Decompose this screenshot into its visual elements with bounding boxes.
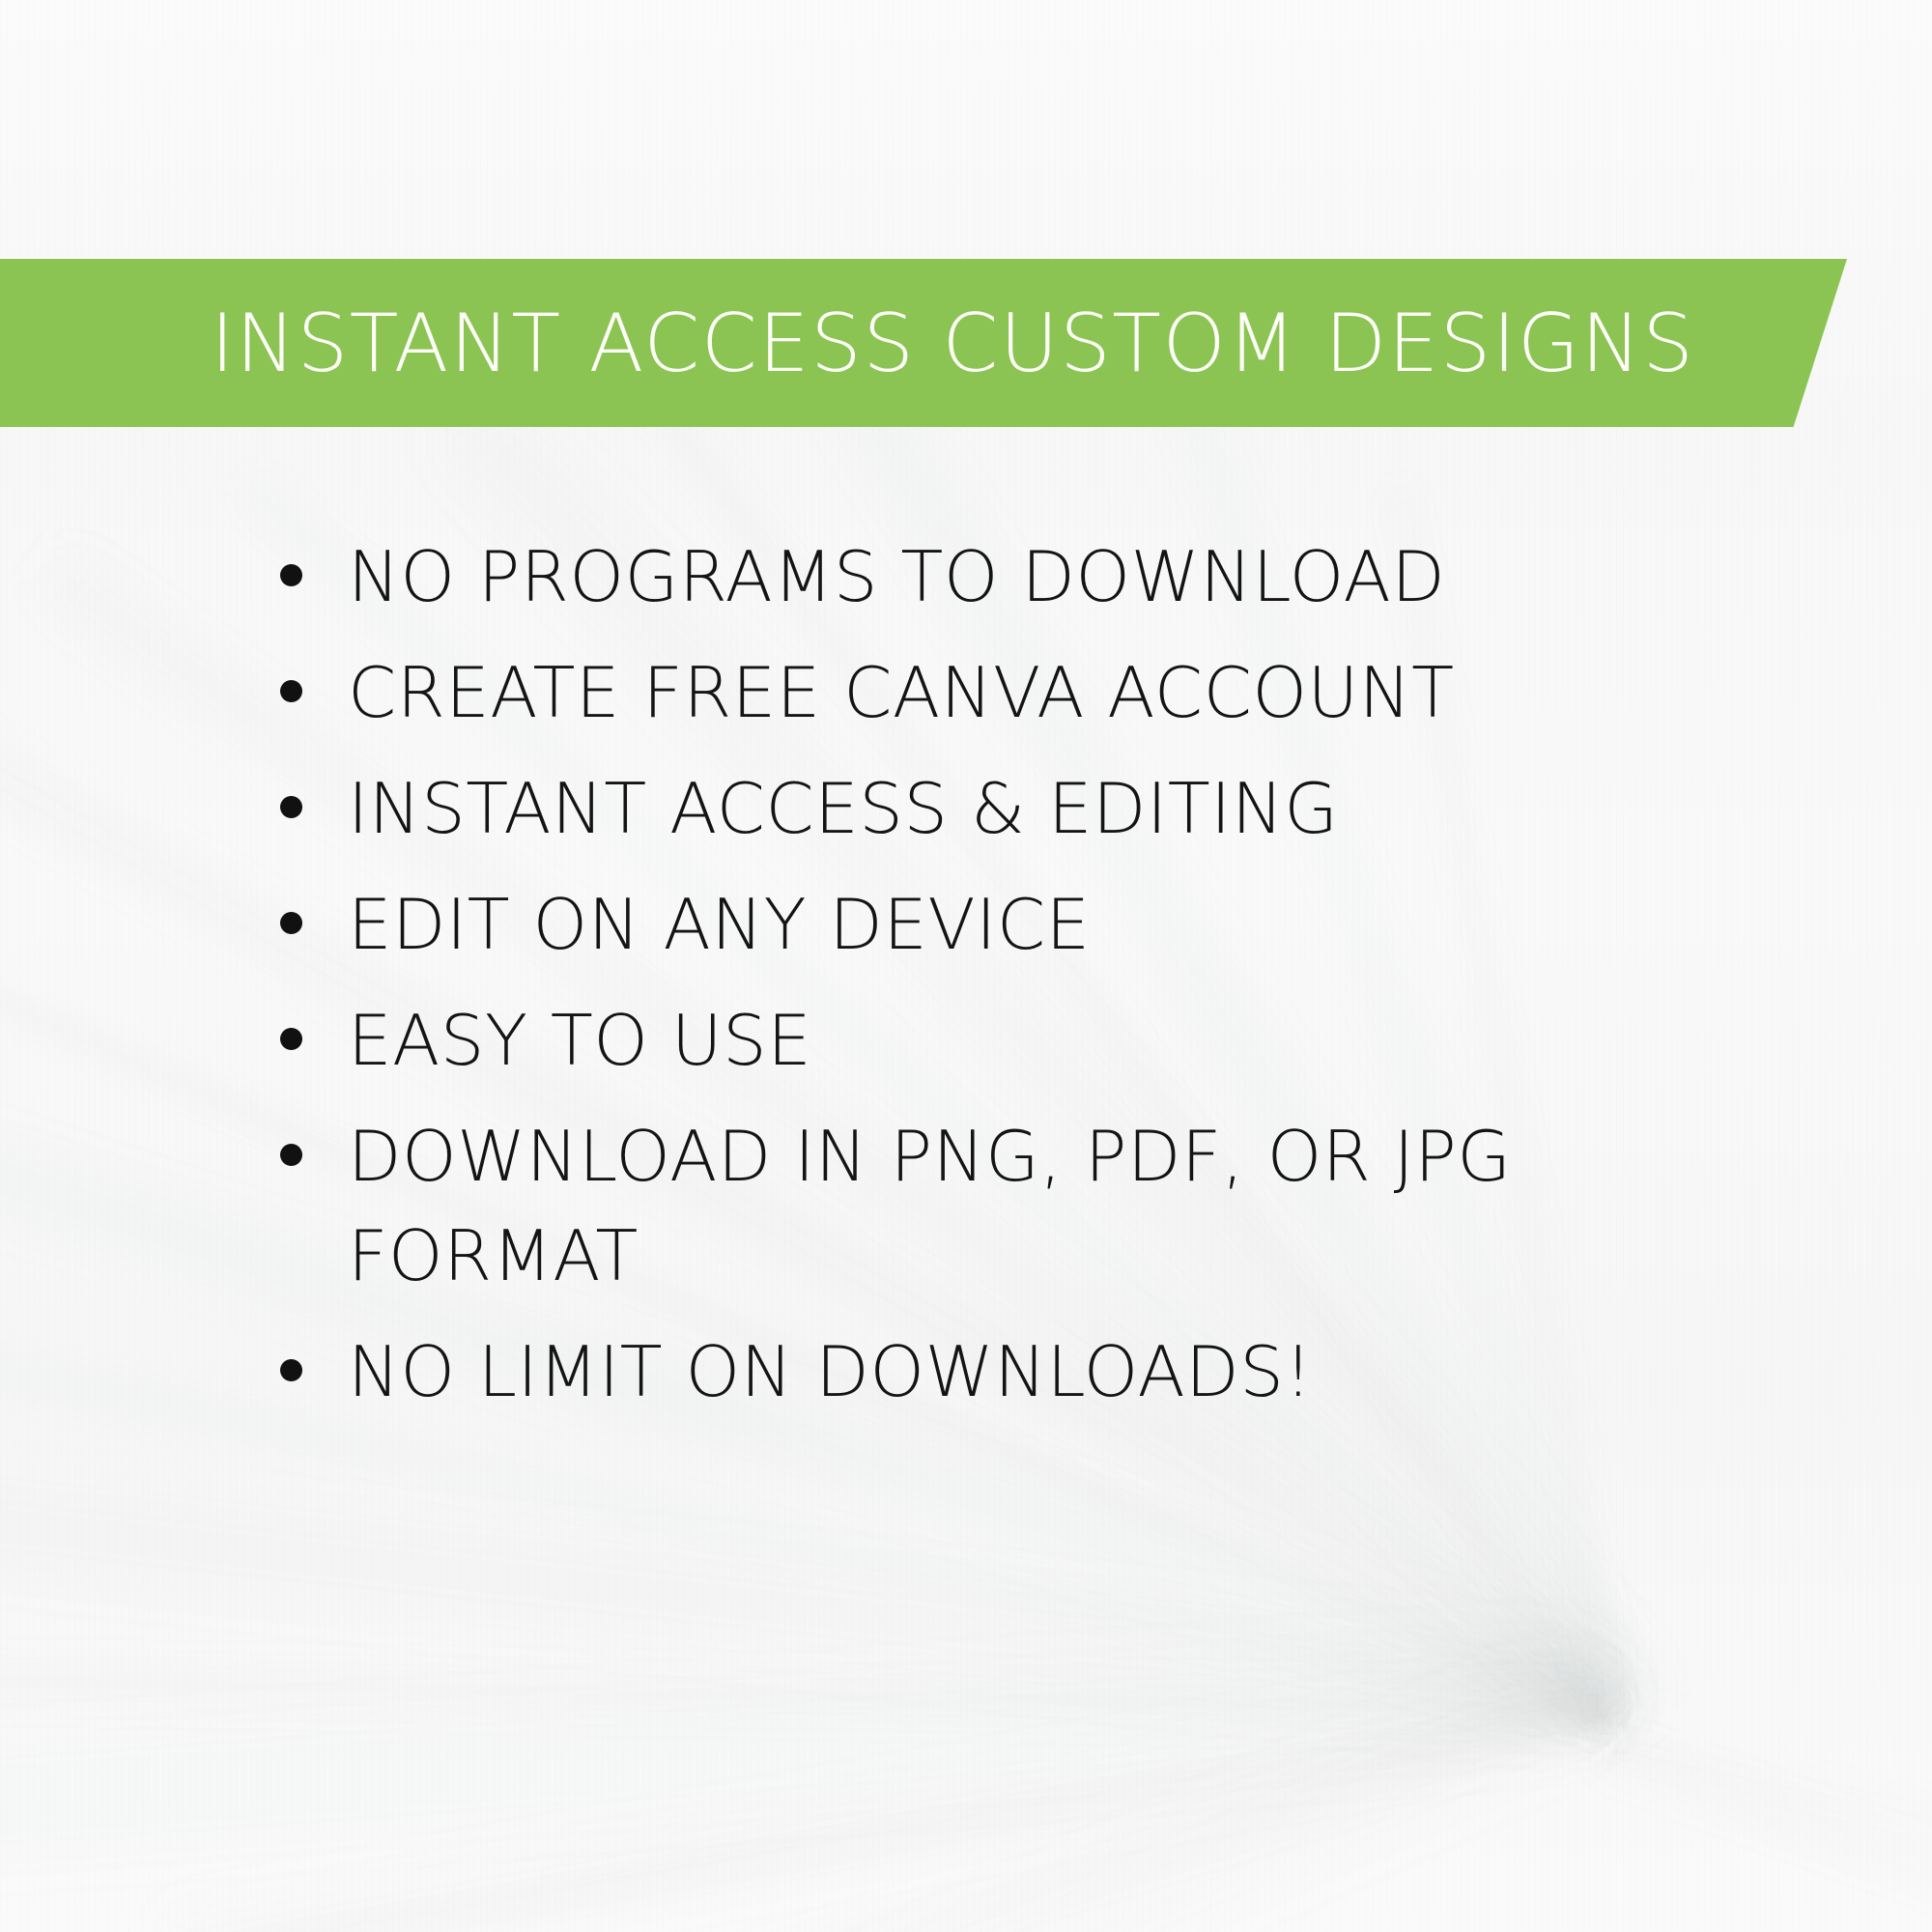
list-item-label: NO PROGRAMS TO DOWNLOAD — [348, 527, 1445, 627]
bullet-dot-icon — [280, 912, 302, 934]
list-item: EDIT ON ANY DEVICE — [280, 875, 1710, 975]
list-item-label: CREATE FREE CANVA ACCOUNT — [348, 643, 1455, 743]
list-item-label: EDIT ON ANY DEVICE — [348, 875, 1091, 975]
list-item: EASY TO USE — [280, 991, 1710, 1091]
bullet-dot-icon — [280, 564, 302, 586]
list-item-label: DOWNLOAD IN PNG, PDF, OR JPG FORMAT — [348, 1107, 1536, 1306]
feature-list: NO PROGRAMS TO DOWNLOADCREATE FREE CANVA… — [280, 527, 1710, 1438]
list-item-label: EASY TO USE — [348, 991, 811, 1091]
list-item: NO LIMIT ON DOWNLOADS! — [280, 1322, 1710, 1422]
list-item: DOWNLOAD IN PNG, PDF, OR JPG FORMAT — [280, 1107, 1710, 1306]
list-item-label: NO LIMIT ON DOWNLOADS! — [348, 1322, 1313, 1422]
list-item: NO PROGRAMS TO DOWNLOAD — [280, 527, 1710, 627]
bullet-dot-icon — [280, 680, 302, 702]
list-item: CREATE FREE CANVA ACCOUNT — [280, 643, 1710, 743]
bullet-dot-icon — [280, 1144, 302, 1166]
bullet-dot-icon — [280, 1028, 302, 1050]
poster-canvas: INSTANT ACCESS CUSTOM DESIGNS NO PROGRAM… — [0, 0, 1932, 1932]
bullet-dot-icon — [280, 796, 302, 818]
bullet-dot-icon — [280, 1359, 302, 1381]
list-item: INSTANT ACCESS & EDITING — [280, 759, 1710, 859]
list-item-label: INSTANT ACCESS & EDITING — [348, 759, 1339, 859]
page-title: INSTANT ACCESS CUSTOM DESIGNS — [211, 259, 1694, 427]
header-banner: INSTANT ACCESS CUSTOM DESIGNS — [0, 259, 1847, 427]
